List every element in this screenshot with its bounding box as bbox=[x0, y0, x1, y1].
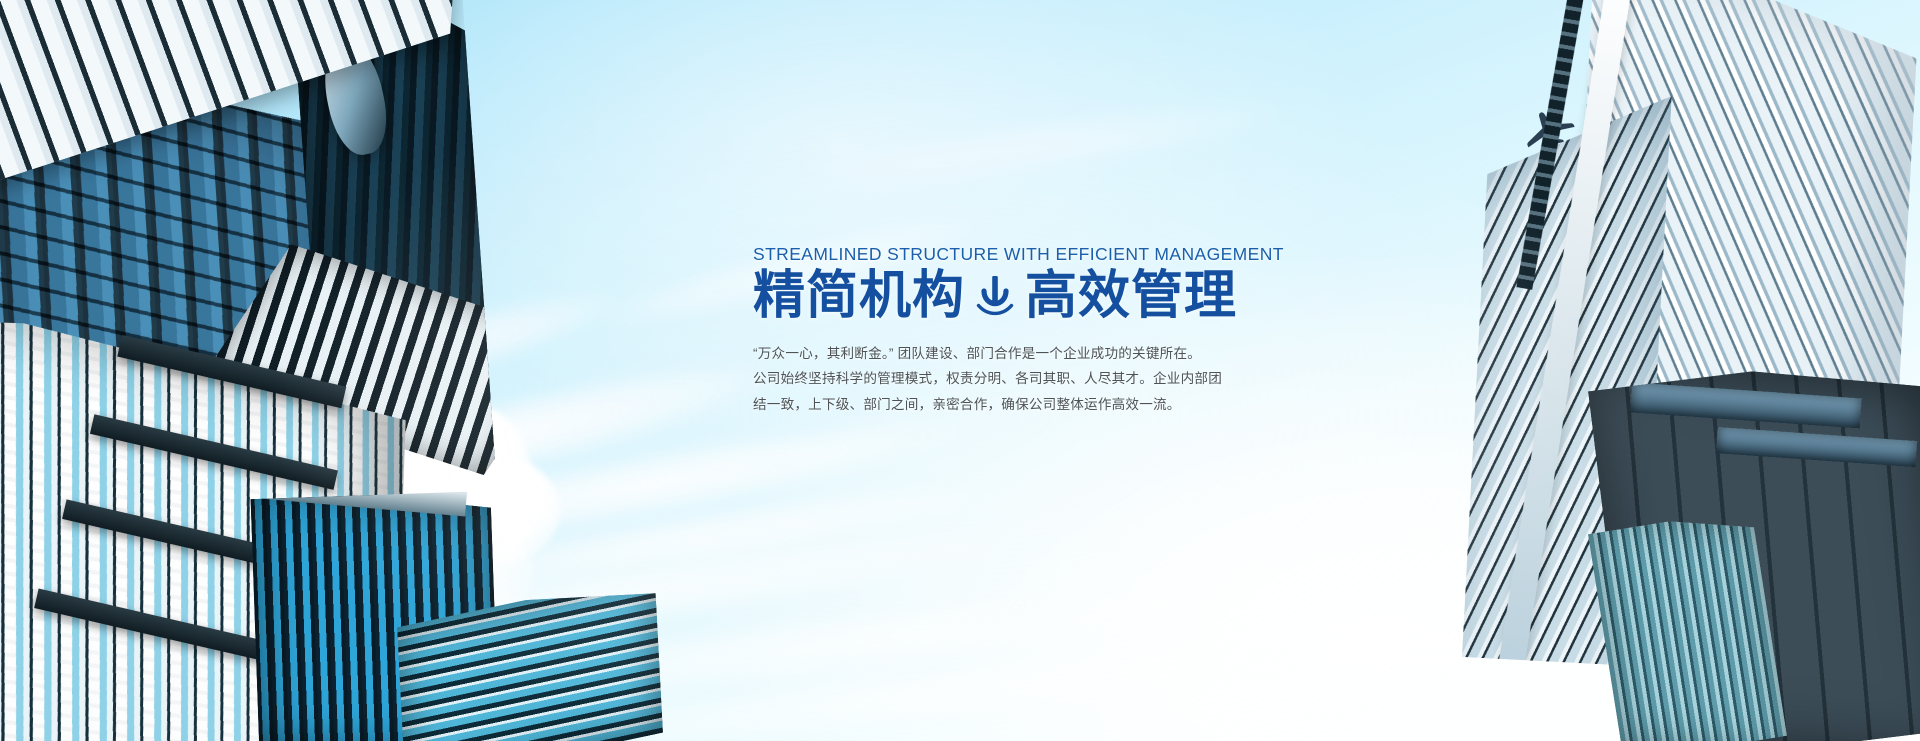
hero-copy-block: STREAMLINED STRUCTURE WITH EFFICIENT MAN… bbox=[753, 244, 1273, 417]
anchor-emblem-icon bbox=[975, 274, 1015, 318]
left-teal-office-slab bbox=[396, 593, 664, 741]
hero-eyebrow: STREAMLINED STRUCTURE WITH EFFICIENT MAN… bbox=[753, 244, 1273, 265]
body-line: 公司始终坚持科学的管理模式，权责分明、各司其职、人尽其才。企业内部团 bbox=[753, 366, 1273, 391]
hero-body-text: “万众一心，其利断金。” 团队建设、部门合作是一个企业成功的关键所在。 公司始终… bbox=[753, 341, 1273, 416]
body-line: “万众一心，其利断金。” 团队建设、部门合作是一个企业成功的关键所在。 bbox=[753, 341, 1273, 366]
tower-facade bbox=[397, 593, 663, 741]
tower-facade bbox=[1588, 516, 1787, 741]
headline-right-text: 高效管理 bbox=[1025, 267, 1237, 325]
hero-headline: 精简机构 高效管理 bbox=[753, 267, 1273, 325]
hero-banner: STREAMLINED STRUCTURE WITH EFFICIENT MAN… bbox=[0, 0, 1920, 741]
headline-left-text: 精简机构 bbox=[753, 267, 965, 325]
body-line: 结一致，上下级、部门之间，亲密合作，确保公司整体运作高效一流。 bbox=[753, 392, 1273, 417]
